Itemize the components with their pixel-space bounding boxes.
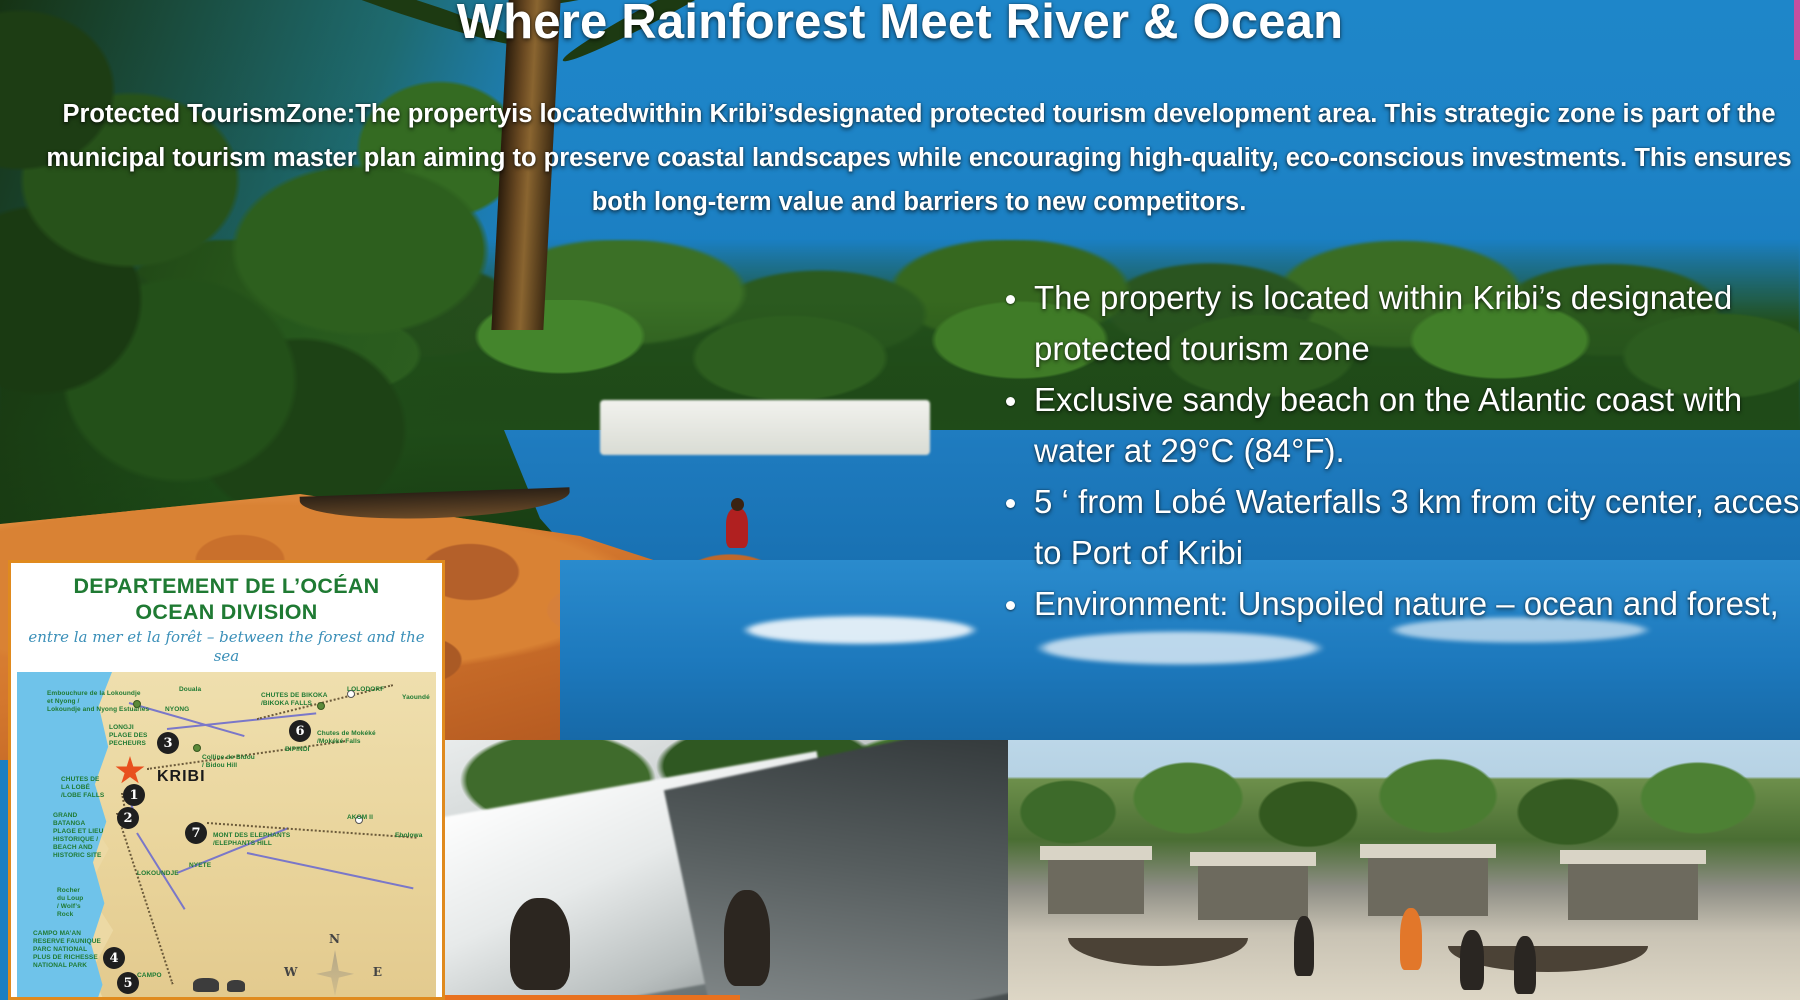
- map-place-label: NYONG: [165, 706, 189, 714]
- map-numbered-pin: 4: [103, 947, 125, 969]
- map-place-label: Yaoundé: [402, 694, 430, 702]
- map-place-label: NYETE: [189, 862, 211, 870]
- map-gorilla-icon: [227, 980, 245, 992]
- map-place-label: CHUTES DE LA LOBÉ /LOBE FALLS: [61, 776, 104, 800]
- map-numbered-pin: 3: [157, 732, 179, 754]
- map-place-label: LONGJI PLAGE DES PECHEURS: [109, 724, 147, 748]
- map-place-label: CHUTES DE BIKOKA /BIKOKA FALLS: [261, 692, 328, 708]
- map-numbered-pin: 7: [185, 822, 207, 844]
- map-place-label: CAMPO MA’AN RESERVE FAUNIQUE PARC NATION…: [33, 930, 101, 970]
- map-site-dot: [193, 744, 201, 752]
- map-place-label: BIPINDI: [285, 746, 310, 754]
- map-place-label: LOLODORF: [347, 686, 384, 694]
- village-hut: [1048, 858, 1144, 914]
- map-numbered-pin: 6: [289, 720, 311, 742]
- person-on-rocks: [726, 508, 748, 548]
- villager: [1294, 916, 1314, 976]
- bullet-text: Exclusive sandy beach on the Atlantic co…: [1034, 381, 1742, 469]
- bullet-dot-icon: [1006, 499, 1015, 508]
- list-item: 5 ‘ from Lobé Waterfalls 3 km from city …: [1000, 476, 1800, 578]
- compass-needle-icon: [316, 950, 354, 996]
- villager: [1514, 936, 1536, 994]
- map-place-label: Embouchure de la Lokoundje et Nyong / Lo…: [47, 690, 149, 714]
- child-left: [510, 898, 570, 990]
- map-title-french: DEPARTEMENT DE L’OCÉAN: [17, 573, 436, 599]
- beached-boat: [1068, 938, 1248, 966]
- villager: [1460, 930, 1484, 990]
- compass-east-label: E: [373, 965, 382, 979]
- bullet-text: The property is located within Kribi’s d…: [1034, 279, 1732, 367]
- village-hut: [1198, 864, 1308, 920]
- map-subtitle: entre la mer et la forêt – between the f…: [17, 628, 436, 666]
- feature-bullet-list: The property is located within Kribi’s d…: [1000, 272, 1800, 629]
- intro-paragraph: Protected TourismZone:The propertyis loc…: [24, 92, 1800, 224]
- list-item: The property is located within Kribi’s d…: [1000, 272, 1800, 374]
- waterfall-dark-rock: [664, 740, 1008, 1000]
- map-header: DEPARTEMENT DE L’OCÉAN OCEAN DIVISION en…: [11, 563, 442, 668]
- list-item: Environment: Unspoiled nature – ocean an…: [1000, 578, 1800, 629]
- map-city-label: KRIBI: [157, 768, 206, 786]
- map-place-label: Colline de Bidou / Bidou Hill: [202, 754, 255, 770]
- map-place-label: Chutes de Mokéké /Mokéké Falls: [317, 730, 376, 746]
- map-numbered-pin: 5: [117, 972, 139, 994]
- distant-waterfall: [600, 400, 930, 455]
- map-canvas: KRIBI N S E W Embouchure de la Lokoundje…: [17, 672, 436, 1000]
- bullet-dot-icon: [1006, 295, 1015, 304]
- compass-north-label: N: [329, 932, 340, 946]
- village-hut: [1568, 862, 1698, 920]
- map-place-label: Douala: [179, 686, 201, 694]
- person-head: [731, 498, 744, 511]
- map-place-label: Rocher du Loup / Wolf’s Rock: [57, 887, 83, 919]
- bullet-dot-icon: [1006, 601, 1015, 610]
- villager-orange-shirt: [1400, 908, 1422, 970]
- lobe-waterfalls-photo: [438, 740, 1008, 1000]
- compass-west-label: W: [284, 965, 297, 979]
- map-place-label: MONT DES ELEPHANTS /ELEPHANTS HILL: [213, 832, 290, 848]
- slide-title: Where Rainforest Meet River & Ocean: [0, 0, 1800, 50]
- kribi-fishing-village-photo: [1008, 740, 1800, 1000]
- village-hut: [1368, 856, 1488, 916]
- bullet-text: 5 ‘ from Lobé Waterfalls 3 km from city …: [1034, 483, 1800, 571]
- map-title-english: OCEAN DIVISION: [17, 599, 436, 625]
- map-place-label: Ebolowa: [395, 832, 422, 840]
- list-item: Exclusive sandy beach on the Atlantic co…: [1000, 374, 1800, 476]
- bullet-dot-icon: [1006, 397, 1015, 406]
- map-numbered-pin: 1: [123, 784, 145, 806]
- child-right: [724, 890, 770, 986]
- ocean-division-map-card: DEPARTEMENT DE L’OCÉAN OCEAN DIVISION en…: [8, 560, 445, 1000]
- map-place-label: GRAND BATANGA PLAGE ET LIEU HISTORIQUE /…: [53, 812, 103, 860]
- map-place-label: LOKOUNDJE: [137, 870, 179, 878]
- presentation-slide: Where Rainforest Meet River & Ocean Prot…: [0, 0, 1800, 1000]
- map-compass-rose: N S E W: [298, 936, 370, 1000]
- map-elephant-icon: [193, 978, 219, 992]
- bullet-text: Environment: Unspoiled nature – ocean an…: [1034, 585, 1779, 622]
- map-place-label: CAMPO: [137, 972, 162, 980]
- map-numbered-pin: 2: [117, 807, 139, 829]
- map-place-label: AKOM II: [347, 814, 373, 822]
